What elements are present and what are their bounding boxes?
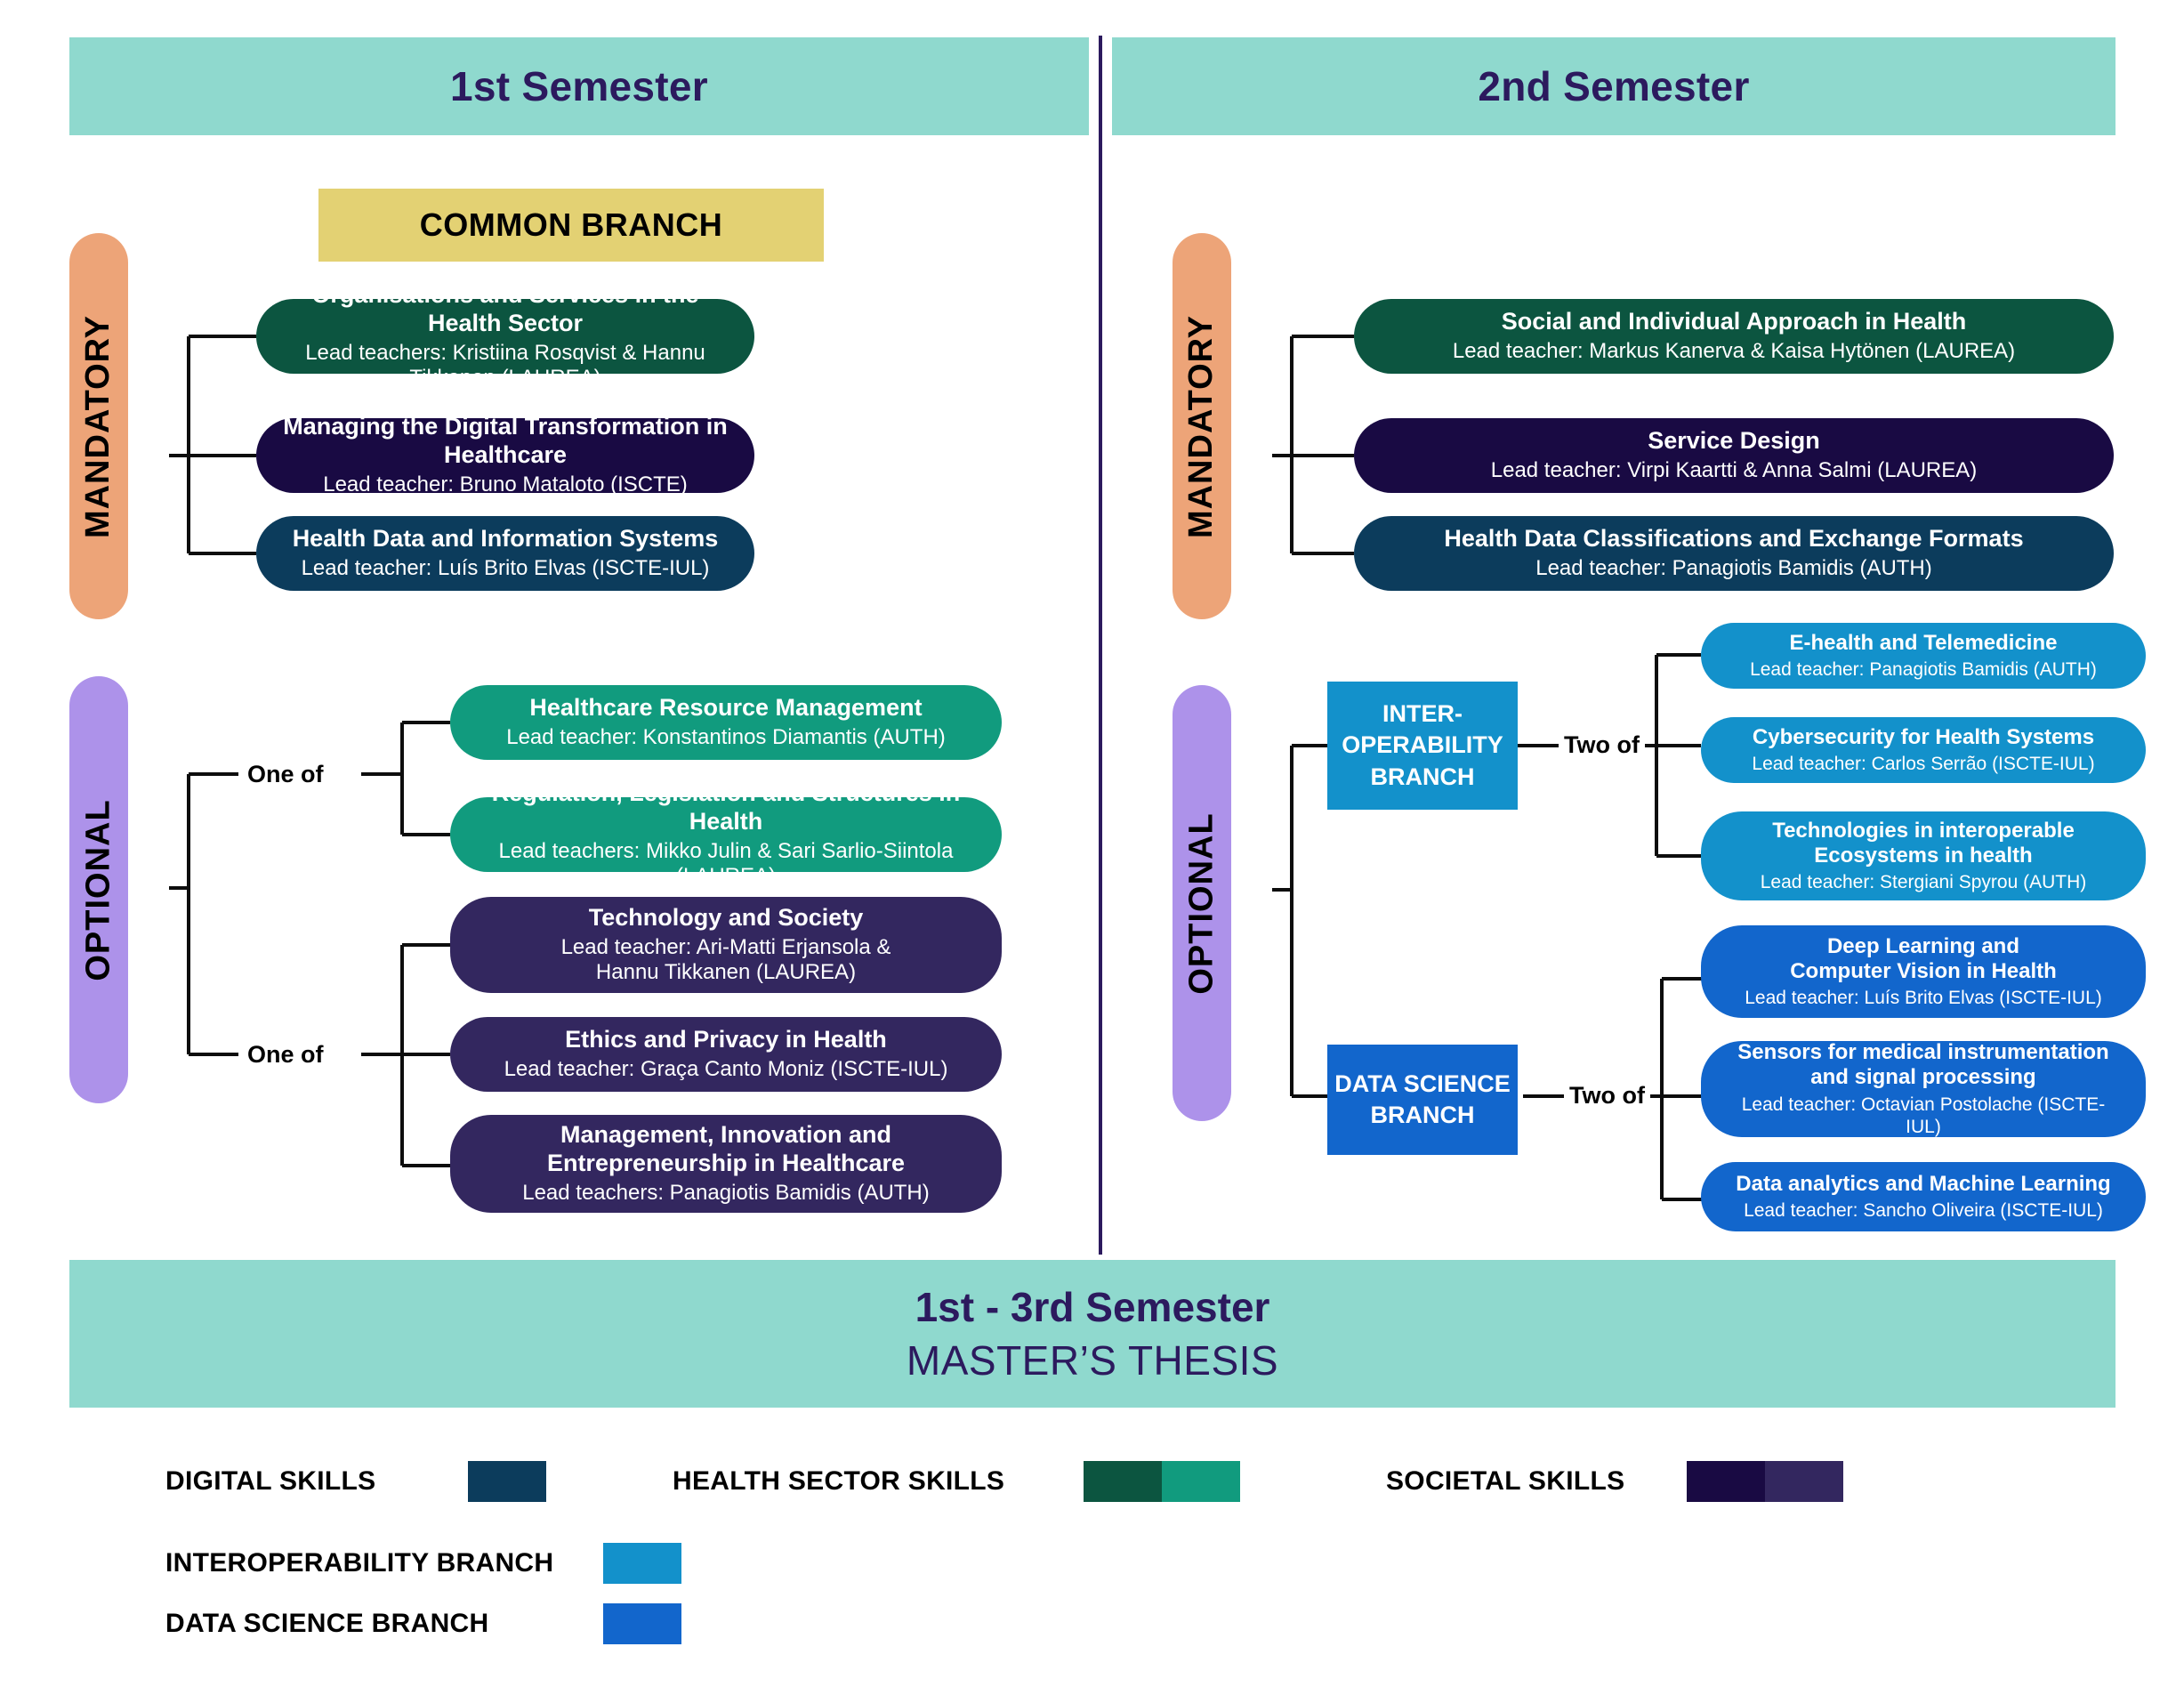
course-card[interactable]: Service Design Lead teacher: Virpi Kaart… [1354, 418, 2114, 493]
course-title: Technology and Society [589, 904, 864, 932]
course-teacher: Lead teacher: Octavian Postolache (ISCTE… [1724, 1094, 2123, 1138]
legend-item: INTEROPERABILITY BRANCH [165, 1543, 681, 1584]
legend-item: HEALTH SECTOR SKILLS [673, 1461, 1240, 1502]
one-of-label-a: One of [242, 761, 329, 788]
course-title: Sensors for medical instrumentationand s… [1737, 1040, 2108, 1091]
semester-1-header: 1st Semester [69, 37, 1089, 135]
course-teacher: Lead teacher: Ari-Matti Erjansola &Hannu… [561, 935, 891, 987]
thesis-semesters: 1st - 3rd Semester [915, 1283, 1270, 1331]
course-title: Healthcare Resource Management [529, 694, 922, 722]
legend-swatch [1765, 1461, 1843, 1502]
course-teacher: Lead teacher: Panagiotis Bamidis (AUTH) [1750, 658, 2097, 681]
course-title: Health Data Classifications and Exchange… [1444, 525, 2023, 553]
legend-label: INTEROPERABILITY BRANCH [165, 1548, 603, 1578]
legend-swatch [603, 1543, 681, 1584]
legend-item: SOCIETAL SKILLS [1386, 1461, 1843, 1502]
course-teacher: Lead teacher: Luís Brito Elvas (ISCTE-IU… [302, 556, 710, 582]
course-title: Health Data and Information Systems [293, 525, 719, 553]
legend-item: DATA SCIENCE BRANCH [165, 1603, 681, 1644]
semester-1-title: 1st Semester [450, 62, 708, 110]
course-card[interactable]: Healthcare Resource Management Lead teac… [450, 685, 1002, 760]
course-teacher: Lead teacher: Markus Kanerva & Kaisa Hyt… [1453, 339, 2015, 365]
course-title: Service Design [1648, 427, 1820, 456]
thesis-title: MASTER’S THESIS [907, 1336, 1278, 1384]
course-card[interactable]: Sensors for medical instrumentationand s… [1701, 1041, 2146, 1137]
semester-2-header: 2nd Semester [1112, 37, 2115, 135]
curriculum-diagram: 1st Semester 2nd Semester COMMON BRANCH … [0, 0, 2184, 1687]
interoperability-branch-label: INTER-OPERABILITYBRANCH [1342, 698, 1503, 792]
course-title: E-health and Telemedicine [1790, 631, 2058, 656]
course-card[interactable]: Managing the Digital Transformation in H… [256, 418, 754, 493]
common-branch-label: COMMON BRANCH [420, 206, 722, 244]
semester-2-mandatory-pill: MANDATORY [1173, 233, 1231, 619]
semester-2-title: 2nd Semester [1478, 62, 1749, 110]
course-title: Technologies in interoperableEcosystems … [1772, 819, 2075, 869]
mandatory-label: MANDATORY [80, 314, 118, 537]
legend-label: DIGITAL SKILLS [165, 1466, 468, 1497]
course-teacher: Lead teacher: Bruno Mataloto (ISCTE) [323, 472, 688, 498]
interoperability-branch-box[interactable]: INTER-OPERABILITYBRANCH [1327, 682, 1518, 810]
one-of-label-b: One of [242, 1041, 329, 1069]
legend-swatches [603, 1603, 681, 1644]
thesis-banner: 1st - 3rd Semester MASTER’S THESIS [69, 1260, 2115, 1408]
course-teacher: Lead teacher: Konstantinos Diamantis (AU… [506, 725, 946, 751]
mandatory-label: MANDATORY [1183, 314, 1221, 537]
course-teacher: Lead teacher: Stergiani Spyrou (AUTH) [1761, 871, 2087, 893]
legend-swatches [1084, 1461, 1240, 1502]
course-card[interactable]: Cybersecurity for Health Systems Lead te… [1701, 717, 2146, 783]
course-teacher: Lead teacher: Sancho Oliveira (ISCTE-IUL… [1744, 1199, 2103, 1222]
legend-swatch [603, 1603, 681, 1644]
course-title: Ethics and Privacy in Health [565, 1026, 887, 1054]
two-of-label-a: Two of [1559, 731, 1645, 759]
course-card[interactable]: Technologies in interoperableEcosystems … [1701, 811, 2146, 900]
legend: DIGITAL SKILLS HEALTH SECTOR SKILLS SOCI… [0, 1452, 2184, 1666]
legend-label: SOCIETAL SKILLS [1386, 1466, 1687, 1497]
course-title: Regulation, Legislation and Structures i… [473, 779, 979, 836]
course-teacher: Lead teacher: Graça Canto Moniz (ISCTE-I… [504, 1057, 948, 1083]
course-title: Data analytics and Machine Learning [1736, 1172, 2110, 1197]
course-teacher: Lead teacher: Luís Brito Elvas (ISCTE-IU… [1745, 987, 2102, 1009]
legend-swatch [1084, 1461, 1162, 1502]
course-title: Social and Individual Approach in Health [1502, 308, 1967, 336]
course-title: Cybersecurity for Health Systems [1753, 725, 2094, 750]
course-card[interactable]: Deep Learning andComputer Vision in Heal… [1701, 925, 2146, 1018]
course-title: Deep Learning andComputer Vision in Heal… [1790, 934, 2057, 985]
semester-2-optional-pill: OPTIONAL [1173, 685, 1231, 1121]
two-of-label-b: Two of [1564, 1082, 1650, 1110]
legend-label: HEALTH SECTOR SKILLS [673, 1466, 1084, 1497]
course-card[interactable]: Health Data Classifications and Exchange… [1354, 516, 2114, 591]
common-branch-banner: COMMON BRANCH [318, 189, 824, 262]
legend-swatch [1687, 1461, 1765, 1502]
course-title: Management, Innovation andEntrepreneursh… [547, 1121, 905, 1178]
legend-swatches [603, 1543, 681, 1584]
course-teacher: Lead teacher: Virpi Kaartti & Anna Salmi… [1491, 458, 1978, 484]
legend-swatch [1162, 1461, 1240, 1502]
course-teacher: Lead teachers: Panagiotis Bamidis (AUTH) [522, 1181, 930, 1207]
course-card[interactable]: Ethics and Privacy in Health Lead teache… [450, 1017, 1002, 1092]
course-card[interactable]: Organisations and Services in the Health… [256, 299, 754, 374]
course-card[interactable]: Regulation, Legislation and Structures i… [450, 797, 1002, 872]
course-title: Organisations and Services in the Health… [279, 281, 731, 338]
legend-swatches [1687, 1461, 1843, 1502]
optional-label: OPTIONAL [1183, 812, 1221, 994]
course-title: Managing the Digital Transformation in H… [279, 413, 731, 470]
semester-1-optional-pill: OPTIONAL [69, 676, 128, 1103]
course-teacher: Lead teacher: Carlos Serrão (ISCTE-IUL) [1752, 753, 2094, 775]
legend-swatches [468, 1461, 546, 1502]
course-card[interactable]: Management, Innovation andEntrepreneursh… [450, 1115, 1002, 1213]
data-science-branch-label: DATA SCIENCEBRANCH [1334, 1069, 1511, 1131]
legend-item: DIGITAL SKILLS [165, 1461, 546, 1502]
course-card[interactable]: Data analytics and Machine Learning Lead… [1701, 1162, 2146, 1231]
semester-1-mandatory-pill: MANDATORY [69, 233, 128, 619]
legend-swatch [468, 1461, 546, 1502]
course-teacher: Lead teachers: Mikko Julin & Sari Sarlio… [473, 839, 979, 891]
data-science-branch-box[interactable]: DATA SCIENCEBRANCH [1327, 1045, 1518, 1155]
course-teacher: Lead teacher: Panagiotis Bamidis (AUTH) [1535, 556, 1932, 582]
semester-divider [1099, 36, 1102, 1255]
course-teacher: Lead teachers: Kristiina Rosqvist & Hann… [279, 341, 731, 392]
legend-label: DATA SCIENCE BRANCH [165, 1609, 603, 1639]
course-card[interactable]: Health Data and Information Systems Lead… [256, 516, 754, 591]
course-card[interactable]: E-health and Telemedicine Lead teacher: … [1701, 623, 2146, 689]
course-card[interactable]: Technology and Society Lead teacher: Ari… [450, 897, 1002, 993]
optional-label: OPTIONAL [80, 799, 118, 981]
course-card[interactable]: Social and Individual Approach in Health… [1354, 299, 2114, 374]
